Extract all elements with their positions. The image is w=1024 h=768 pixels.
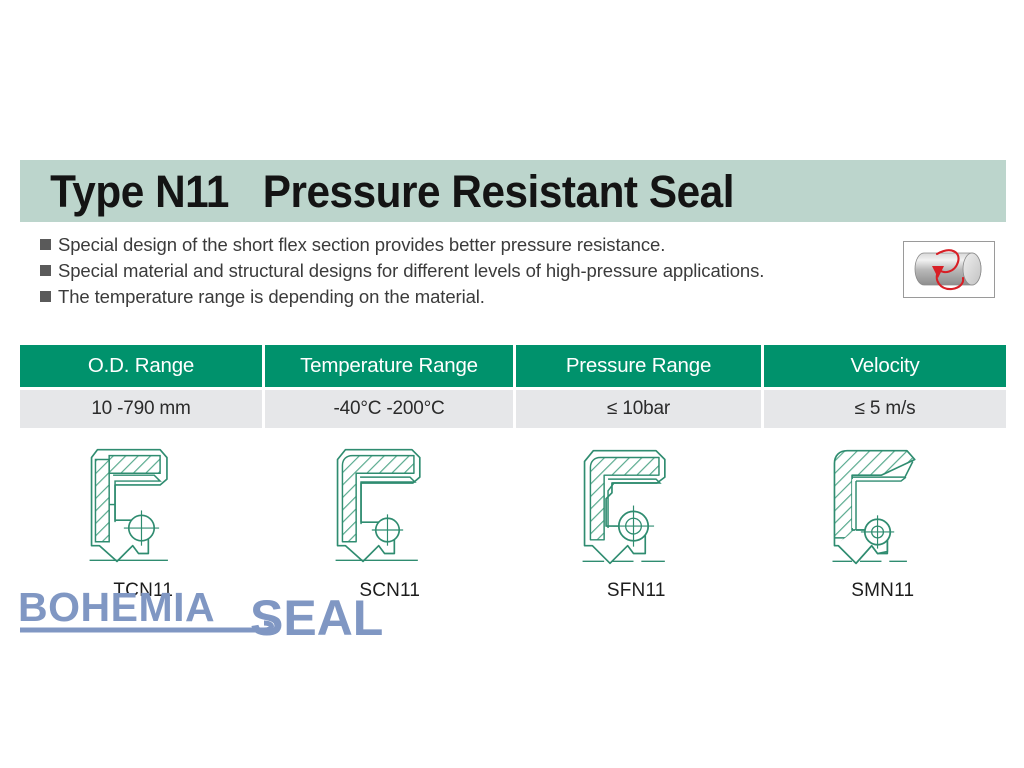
title-band: Type N11 Pressure Resistant Seal (20, 160, 1006, 222)
table-header-row: O.D. Range Temperature Range Pressure Ra… (20, 345, 1006, 387)
feature-text: Special design of the short flex section… (58, 232, 665, 257)
seal-variant-gallery: TCN11 SCN11 (20, 436, 1006, 616)
watermark-swoosh (20, 623, 272, 630)
seal-variant-tcn11: TCN11 (20, 436, 267, 616)
seal-cross-section-tcn11 (70, 436, 217, 578)
feature-text: The temperature range is depending on th… (58, 284, 485, 309)
seal-cross-section-scn11 (316, 436, 463, 578)
list-item: Special material and structural designs … (40, 258, 885, 283)
cell-velocity: ≤ 5 m/s (764, 390, 1006, 428)
seal-label: SFN11 (607, 580, 666, 602)
shaft-rotation-svg (904, 242, 994, 297)
list-item: The temperature range is depending on th… (40, 284, 885, 309)
cell-od-range: 10 -790 mm (20, 390, 262, 428)
column-header-pressure-range: Pressure Range (516, 345, 761, 387)
seal-variant-sfn11: SFN11 (513, 436, 760, 616)
feature-list: Special design of the short flex section… (40, 232, 885, 310)
square-bullet-icon (40, 291, 51, 302)
page-title: Type N11 Pressure Resistant Seal (20, 169, 734, 214)
square-bullet-icon (40, 265, 51, 276)
column-header-velocity: Velocity (764, 345, 1006, 387)
cell-pressure-range: ≤ 10bar (516, 390, 761, 428)
column-header-temperature-range: Temperature Range (265, 345, 513, 387)
square-bullet-icon (40, 239, 51, 250)
seal-variant-scn11: SCN11 (267, 436, 514, 616)
list-item: Special design of the short flex section… (40, 232, 885, 257)
column-header-od-range: O.D. Range (20, 345, 262, 387)
seal-label: SMN11 (851, 580, 914, 602)
seal-label: TCN11 (113, 580, 173, 602)
table-row: 10 -790 mm -40°C -200°C ≤ 10bar ≤ 5 m/s (20, 390, 1006, 428)
seal-label: SCN11 (359, 580, 420, 602)
feature-text: Special material and structural designs … (58, 258, 764, 283)
cell-temperature-range: -40°C -200°C (265, 390, 513, 428)
seal-cross-section-smn11 (809, 436, 956, 578)
seal-cross-section-sfn11 (563, 436, 710, 578)
seal-variant-smn11: SMN11 (760, 436, 1007, 616)
specification-table: O.D. Range Temperature Range Pressure Ra… (20, 345, 1006, 428)
shaft-rotation-icon (903, 241, 995, 298)
